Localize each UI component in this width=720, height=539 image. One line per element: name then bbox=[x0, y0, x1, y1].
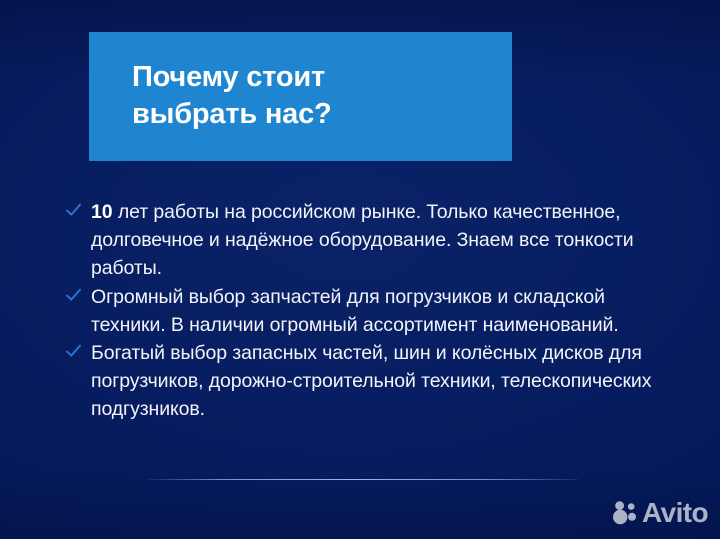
list-item: 10 лет работы на российском рынке. Тольк… bbox=[60, 198, 680, 283]
list-item-text: Богатый выбор запасных частей, шин и кол… bbox=[91, 339, 680, 424]
benefits-list: 10 лет работы на российском рынке. Тольк… bbox=[60, 198, 680, 424]
list-item-body: Огромный выбор запчастей для погрузчиков… bbox=[91, 286, 619, 336]
list-item-body: Богатый выбор запасных частей, шин и кол… bbox=[91, 342, 651, 420]
avito-dots-icon bbox=[612, 500, 638, 526]
check-icon bbox=[65, 202, 82, 219]
list-item: Огромный выбор запчастей для погрузчиков… bbox=[60, 283, 680, 339]
check-icon bbox=[65, 343, 82, 360]
list-item-body: лет работы на российском рынке. Только к… bbox=[91, 201, 634, 279]
avito-wordmark: Avito bbox=[642, 499, 708, 527]
list-item: Богатый выбор запасных частей, шин и кол… bbox=[60, 339, 680, 424]
list-item-text: Огромный выбор запчастей для погрузчиков… bbox=[91, 283, 680, 339]
check-icon bbox=[65, 287, 82, 304]
slide-canvas: Почему стоит выбрать нас? 10 лет работы … bbox=[0, 0, 720, 539]
divider bbox=[148, 479, 578, 480]
page-title: Почему стоит выбрать нас? bbox=[132, 59, 494, 133]
title-card: Почему стоит выбрать нас? bbox=[89, 32, 512, 161]
avito-watermark: Avito bbox=[612, 497, 708, 529]
list-item-text: 10 лет работы на российском рынке. Тольк… bbox=[91, 198, 680, 283]
list-item-lead: 10 bbox=[91, 201, 113, 223]
